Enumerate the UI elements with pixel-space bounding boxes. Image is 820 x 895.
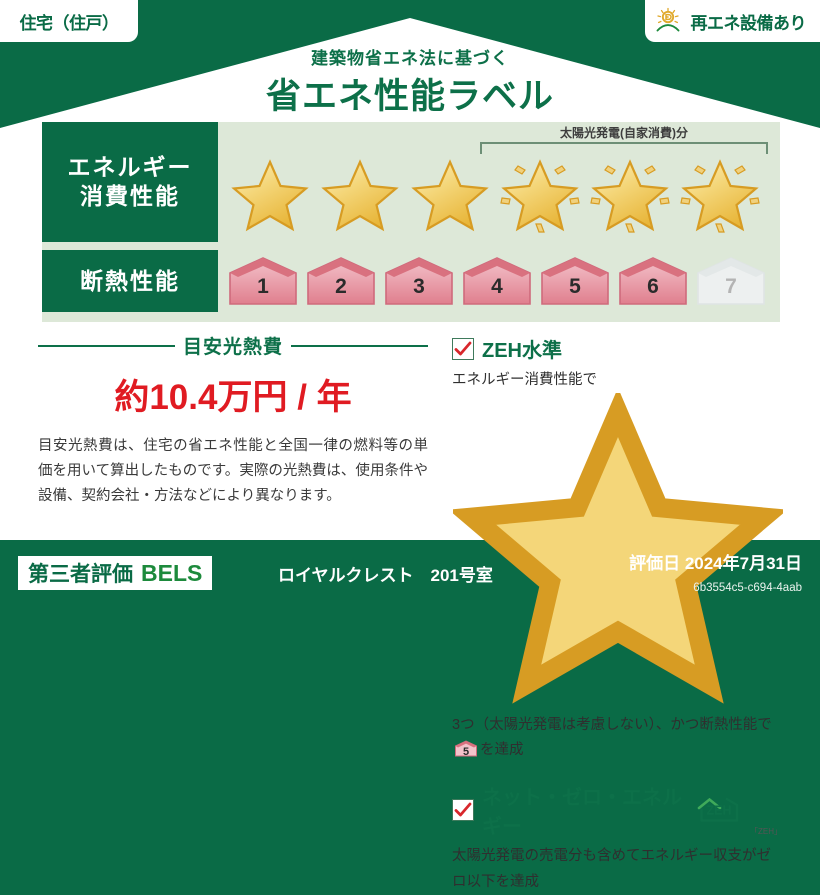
rule-right — [291, 345, 428, 347]
utility-cost-block: 目安光熱費 約10.4万円 / 年 目安光熱費は、住宅の省エネ性能と全国一律の燃… — [38, 332, 428, 509]
rule-left — [38, 345, 175, 347]
zeh-logo-caption: 「ZEH」 — [750, 826, 782, 837]
star-icon — [226, 156, 314, 234]
house-grade-icon: 6 — [616, 255, 690, 307]
checkbox-checked-icon — [452, 338, 474, 360]
renewable-equipment-badge: 再エネ設備あり — [645, 0, 820, 42]
certification-checks: ZEH水準 エネルギー消費性能で3つ（太陽光発電は考慮しない）、かつ断熱性能で5… — [452, 334, 782, 895]
desc-text-3: を達成 — [480, 742, 524, 758]
performance-panel: エネルギー 消費性能 太陽光発電(自家消費)分 — [42, 122, 780, 322]
building-name: ロイヤルクレスト 201号室 — [278, 561, 493, 586]
insulation-performance-row: 断熱性能 1 2 3 — [42, 250, 780, 312]
utility-cost-note: 目安光熱費は、住宅の省エネ性能と全国一律の燃料等の単価を用いて算出したものです。… — [38, 434, 428, 509]
house-grade-icon: 3 — [382, 255, 456, 307]
house-grade-icon: 2 — [304, 255, 378, 307]
check-header: ネット・ゼロ・エネルギー ZEH 「ZEH」 — [452, 781, 782, 839]
grade-value: 6 — [616, 275, 690, 299]
desc-text-1: エネルギー消費性能で — [452, 372, 597, 388]
energy-performance-label: 住宅（住戸） 再エネ設備あり 建築物省エネ法 — [0, 0, 820, 610]
grade-value: 4 — [460, 275, 534, 299]
grade-value: 7 — [694, 275, 768, 299]
utility-cost-value: 約10.4万円 / 年 — [38, 369, 428, 420]
desc-text-2: 3つ（太陽光発電は考慮しない）、かつ断熱性能で — [452, 717, 772, 733]
solar-caption: 太陽光発電(自家消費)分 — [476, 124, 772, 141]
label-title: 省エネ性能ラベル — [0, 68, 820, 119]
bels-ja-label: 第三者評価 — [28, 558, 133, 588]
insulation-grades-area: 1 2 3 4 5 — [218, 250, 780, 312]
zeh-logo-icon: ZEH — [696, 797, 742, 823]
energy-performance-row: エネルギー 消費性能 太陽光発電(自家消費)分 — [42, 122, 780, 242]
star-with-rays-icon — [496, 156, 584, 234]
star-icon — [316, 156, 404, 234]
utility-cost-heading-label: 目安光熱費 — [183, 332, 283, 359]
star-icon — [406, 156, 494, 234]
grade-value: 3 — [382, 275, 456, 299]
insulation-grade-scale: 1 2 3 4 5 — [226, 254, 772, 308]
checkbox-checked-icon — [452, 799, 474, 821]
grade-value: 5 — [538, 275, 612, 299]
solar-bracket — [480, 142, 768, 154]
house-grade-icon: 5 — [538, 255, 612, 307]
check-header: ZEH水準 — [452, 334, 782, 363]
energy-label-line2: 消費性能 — [80, 182, 180, 211]
building-type-label: 住宅（住戸） — [20, 9, 119, 34]
insulation-performance-label-box: 断熱性能 — [42, 250, 218, 312]
building-type-tab: 住宅（住戸） — [0, 0, 138, 42]
check-description: 太陽光発電の売電分も含めてエネルギー収支がゼロ以下を達成 — [452, 844, 782, 894]
renewable-equipment-label: 再エネ設備あり — [691, 9, 807, 34]
evaluation-date: 評価日 2024年7月31日 — [629, 549, 802, 574]
star-with-rays-icon — [586, 156, 674, 234]
energy-stars-area: 太陽光発電(自家消費)分 — [218, 122, 780, 242]
house-grade-icon: 1 — [226, 255, 300, 307]
insulation-label: 断熱性能 — [80, 267, 180, 296]
label-subtitle: 建築物省エネ法に基づく — [0, 44, 820, 69]
star-icon — [453, 692, 783, 708]
energy-performance-label-box: エネルギー 消費性能 — [42, 122, 218, 242]
check-title: ZEH水準 — [482, 334, 562, 363]
energy-label-line1: エネルギー — [68, 153, 193, 182]
solar-sun-icon — [655, 7, 685, 35]
svg-text:ZEH: ZEH — [707, 804, 732, 818]
grade-value: 1 — [226, 275, 300, 299]
star-rating — [226, 156, 772, 234]
house-grade-icon-inline: 5 — [454, 740, 478, 757]
grade-value: 2 — [304, 275, 378, 299]
evaluation-id: 6b3554c5-c694-4aab — [693, 582, 802, 594]
star-with-rays-icon — [676, 156, 764, 234]
house-grade-icon-inactive: 7 — [694, 255, 768, 307]
utility-cost-heading: 目安光熱費 — [38, 332, 428, 359]
bels-badge: 第三者評価 BELS — [18, 556, 212, 590]
inline-grade-value: 5 — [454, 743, 478, 762]
check-item-net-zero-energy: ネット・ゼロ・エネルギー ZEH 「ZEH」 太陽光発電の売電分も含めてエネルギ… — [452, 781, 782, 894]
bels-en-label: BELS — [141, 560, 202, 587]
check-title: ネット・ゼロ・エネルギー — [482, 781, 688, 839]
house-grade-icon: 4 — [460, 255, 534, 307]
